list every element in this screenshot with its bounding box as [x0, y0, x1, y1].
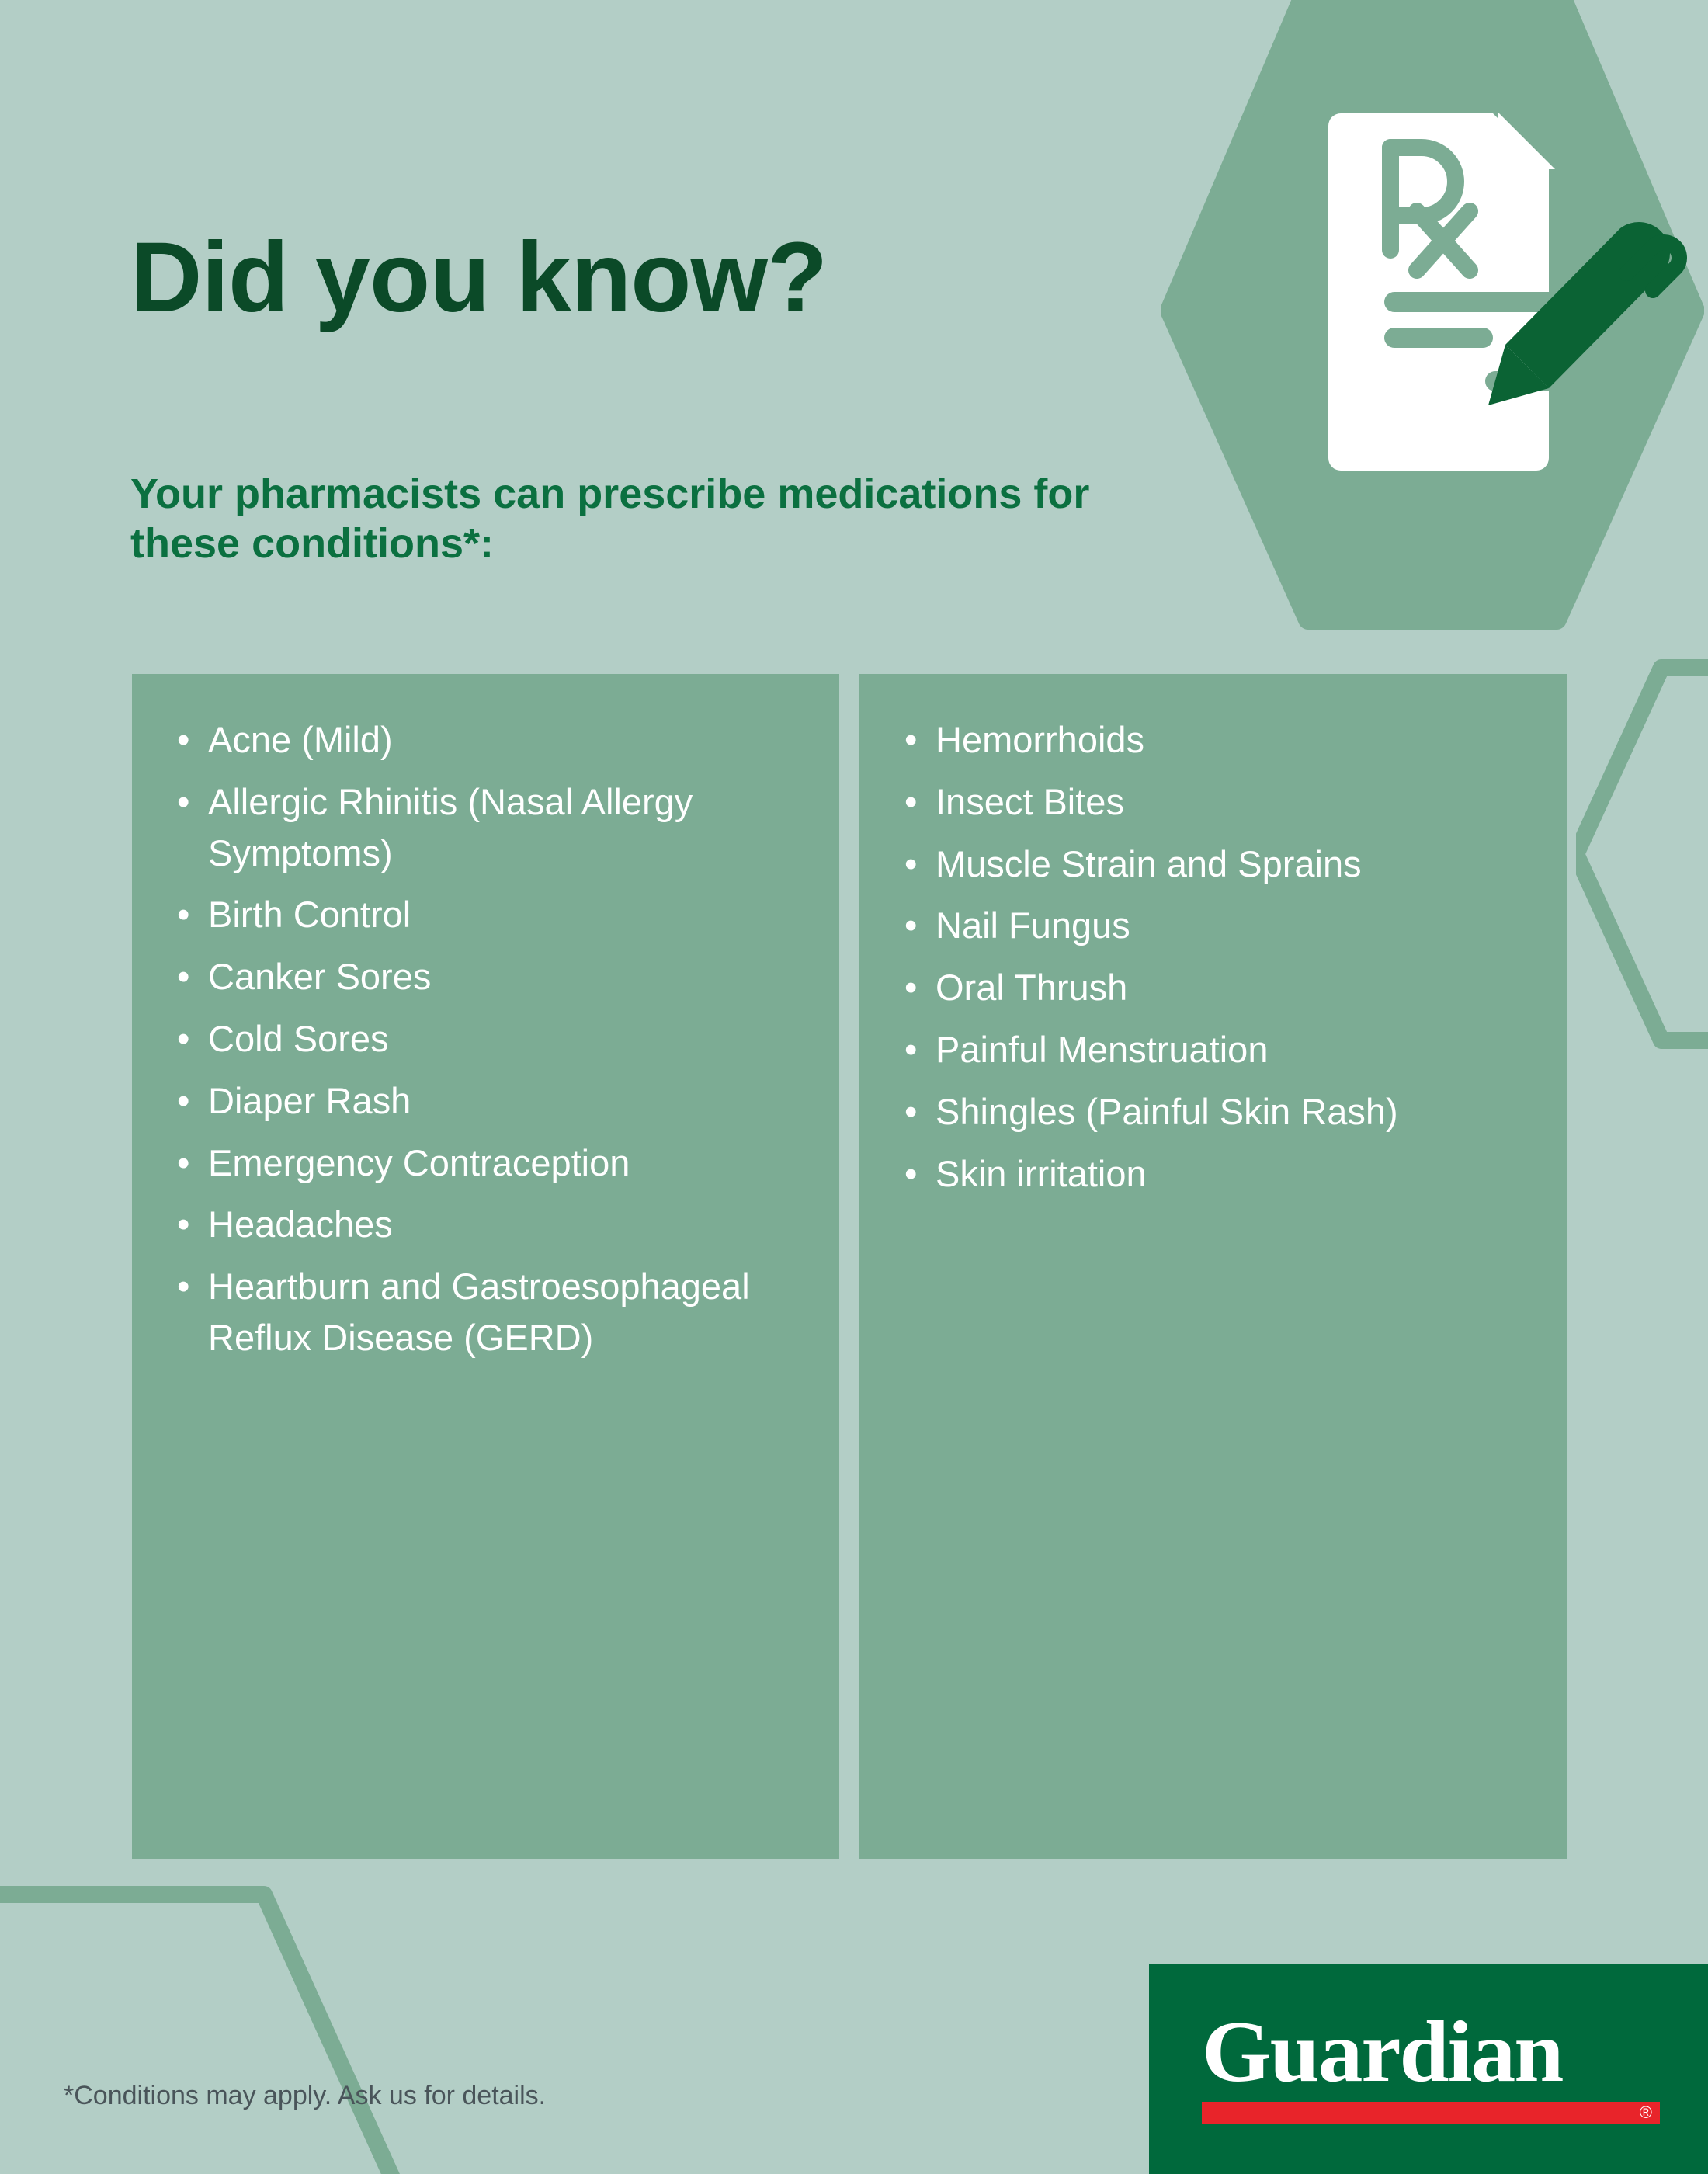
list-item-label: Canker Sores	[208, 956, 431, 997]
list-item: • Heartburn and Gastroesophageal Reflux …	[160, 1261, 811, 1363]
bullet-icon: •	[904, 962, 917, 1013]
list-item: • Nail Fungus	[887, 900, 1539, 951]
brand-name: Guardian	[1202, 2009, 1674, 2095]
list-item-label: Hemorrhoids	[936, 719, 1144, 760]
list-item: • Acne (Mild)	[160, 714, 811, 766]
bullet-icon: •	[177, 1075, 189, 1127]
poster-canvas: Did you know? Your pharmacists can presc…	[0, 0, 1708, 2174]
bullet-icon: •	[177, 714, 189, 766]
page-subtitle: Your pharmacists can prescribe medicatio…	[130, 470, 1124, 568]
hexagon-outline-right-icon	[1576, 652, 1708, 1056]
list-item-label: Birth Control	[208, 894, 411, 935]
page-title: Did you know?	[130, 228, 827, 328]
bullet-icon: •	[177, 1137, 189, 1189]
conditions-panel-right: • Hemorrhoids • Insect Bites • Muscle St…	[859, 674, 1567, 1859]
bullet-icon: •	[177, 1261, 189, 1312]
pen-icon	[1488, 222, 1679, 405]
list-item: • Birth Control	[160, 889, 811, 940]
prescription-document-icon	[1328, 112, 1566, 471]
bullet-icon: •	[904, 839, 917, 890]
bullet-icon: •	[177, 1199, 189, 1250]
bullet-icon: •	[177, 776, 189, 828]
footnote-text: *Conditions may apply. Ask us for detail…	[64, 2081, 546, 2111]
bullet-icon: •	[904, 1024, 917, 1075]
hexagon-badge	[1161, 0, 1704, 637]
list-item: • Shingles (Painful Skin Rash)	[887, 1086, 1539, 1137]
list-item-label: Insect Bites	[936, 781, 1124, 822]
bullet-icon: •	[177, 951, 189, 1002]
conditions-panel-left: • Acne (Mild) • Allergic Rhinitis (Nasal…	[132, 674, 839, 1859]
bullet-icon: •	[904, 1086, 917, 1137]
hexagon-shape	[1170, 0, 1695, 620]
bullet-icon: •	[904, 714, 917, 766]
list-item: • Skin irritation	[887, 1148, 1539, 1200]
brand-wordmark: Guardian	[1202, 2009, 1660, 2095]
list-item-label: Cold Sores	[208, 1018, 389, 1059]
list-item-label: Muscle Strain and Sprains	[936, 843, 1362, 884]
list-item-label: Oral Thrush	[936, 967, 1127, 1008]
list-item-label: Emergency Contraception	[208, 1142, 630, 1183]
list-item: • Muscle Strain and Sprains	[887, 839, 1539, 890]
bullet-icon: •	[904, 1148, 917, 1200]
list-item: • Oral Thrush	[887, 962, 1539, 1013]
list-item: • Emergency Contraception	[160, 1137, 811, 1189]
list-item: • Painful Menstruation	[887, 1024, 1539, 1075]
list-item-label: Headaches	[208, 1203, 393, 1245]
list-item: • Diaper Rash	[160, 1075, 811, 1127]
list-item-label: Nail Fungus	[936, 905, 1130, 946]
bullet-icon: •	[904, 776, 917, 828]
bullet-icon: •	[177, 1013, 189, 1064]
list-item: • Insect Bites	[887, 776, 1539, 828]
list-item: • Cold Sores	[160, 1013, 811, 1064]
list-item: • Hemorrhoids	[887, 714, 1539, 766]
conditions-panels: • Acne (Mild) • Allergic Rhinitis (Nasal…	[132, 674, 1567, 1859]
list-item-label: Skin irritation	[936, 1153, 1147, 1194]
list-item-label: Shingles (Painful Skin Rash)	[936, 1091, 1398, 1132]
brand-logo: Guardian ®	[1149, 1964, 1708, 2174]
list-item: • Allergic Rhinitis (Nasal Allergy Sympt…	[160, 776, 811, 879]
list-item-label: Acne (Mild)	[208, 719, 393, 760]
conditions-list-left: • Acne (Mild) • Allergic Rhinitis (Nasal…	[160, 714, 811, 1363]
list-item-label: Painful Menstruation	[936, 1029, 1268, 1070]
brand-rule: ®	[1202, 2102, 1660, 2124]
list-item-label: Diaper Rash	[208, 1080, 411, 1121]
list-item-label: Allergic Rhinitis (Nasal Allergy Symptom…	[208, 781, 693, 873]
registered-mark-icon: ®	[1640, 2103, 1652, 2123]
bullet-icon: •	[177, 889, 189, 940]
bullet-icon: •	[904, 900, 917, 951]
hexagon-outline-bottom-icon	[0, 1879, 411, 2174]
conditions-list-right: • Hemorrhoids • Insect Bites • Muscle St…	[887, 714, 1539, 1199]
list-item-label: Heartburn and Gastroesophageal Reflux Di…	[208, 1266, 750, 1358]
list-item: • Headaches	[160, 1199, 811, 1250]
list-item: • Canker Sores	[160, 951, 811, 1002]
